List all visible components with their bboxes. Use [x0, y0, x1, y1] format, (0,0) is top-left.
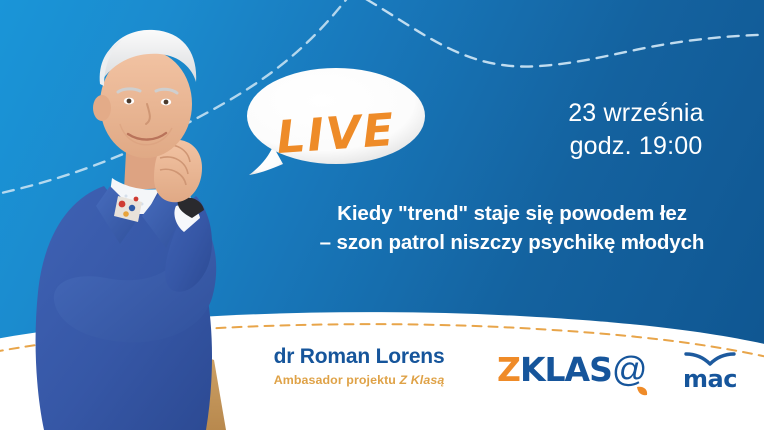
- speaker-role-prefix: Ambasador projektu: [274, 373, 400, 387]
- mac-logo: mac: [679, 352, 741, 391]
- zklasa-logo-z: Z: [497, 350, 520, 389]
- event-date-day: 23 września: [520, 97, 752, 130]
- speaker-role: Ambasador projektu Z Klasą: [228, 373, 490, 387]
- headline-line-1: Kiedy "trend" staje się powodem łez: [337, 202, 687, 225]
- zklasa-logo: ZKLAS@: [497, 352, 647, 392]
- zklasa-logo-at: @: [612, 350, 648, 389]
- headline-line-2: – szon patrol niszczy psychikę młodych: [268, 228, 756, 257]
- mac-swoosh-icon: [684, 352, 736, 366]
- event-date: 23 września godz. 19:00: [520, 97, 752, 163]
- speaker-role-project: Z Klasą: [400, 373, 445, 387]
- portrait-ear: [93, 95, 111, 121]
- zklasa-leaf-icon: [636, 385, 649, 397]
- live-label: LIVE: [275, 107, 397, 160]
- portrait-pupil-right: [164, 100, 169, 105]
- event-date-time: godz. 19:00: [520, 130, 752, 163]
- portrait-pupil-left: [127, 99, 132, 104]
- zklasa-logo-klas: KLAS: [520, 350, 612, 389]
- live-event-poster: LIVE 23 września godz. 19:00 Kiedy "tren…: [0, 0, 764, 430]
- page-title: Kiedy "trend" staje się powodem łez – sz…: [268, 199, 756, 257]
- speaker-name: dr Roman Lorens: [228, 345, 490, 369]
- live-badge: LIVE: [243, 64, 429, 176]
- speaker-block: dr Roman Lorens Ambasador projektu Z Kla…: [228, 345, 490, 387]
- mac-logo-word: mac: [679, 367, 741, 391]
